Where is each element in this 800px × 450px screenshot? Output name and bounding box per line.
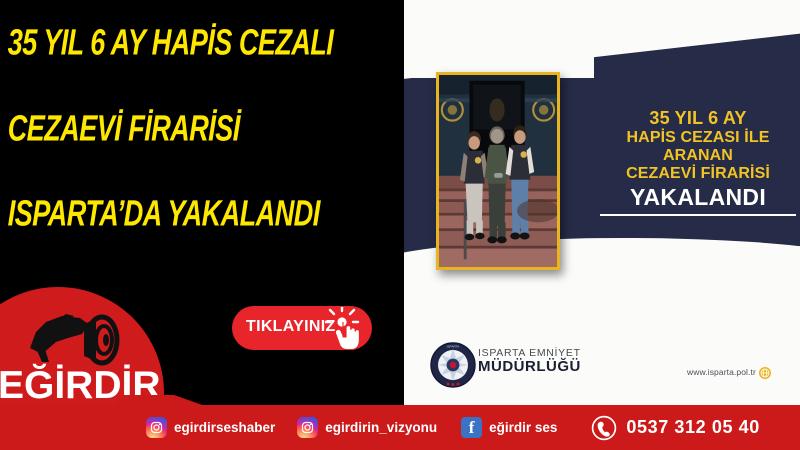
poster-line-4: CEZAEVİ FİRARİSİ <box>596 165 800 183</box>
social-handle: eğirdir ses <box>489 420 557 435</box>
institution-block: ISPARTA ISPARTA EMNİYET MÜDÜRLÜĞÜ <box>430 342 476 388</box>
social-link-facebook[interactable]: f eğirdir ses <box>461 417 557 438</box>
svg-text:ISPARTA: ISPARTA <box>447 344 461 348</box>
photo-artwork <box>439 75 557 267</box>
phone-contact[interactable]: 0537 312 05 40 <box>591 415 760 441</box>
social-link-instagram-2[interactable]: egirdirin_vizyonu <box>297 417 437 438</box>
poster-headline-block: 35 YIL 6 AY HAPİS CEZASI İLE ARANAN CEZA… <box>596 108 800 216</box>
headline-line-2: CEZAEVİ FİRARİSİ <box>7 108 396 150</box>
phone-icon <box>591 415 617 441</box>
tiklayiniz-label: TIKLAYINIZ <box>246 318 336 336</box>
headline-line-1: 35 YIL 6 AY HAPİS CEZALI <box>7 22 396 64</box>
social-handle: egirdirseshaber <box>174 420 275 435</box>
website-url: www.isparta.pol.tr <box>687 367 756 377</box>
tiklayiniz-button[interactable]: TIKLAYINIZ <box>232 306 372 350</box>
police-badge-seal-icon: ISPARTA <box>430 342 476 388</box>
instagram-icon <box>146 417 167 438</box>
facebook-icon: f <box>461 417 482 438</box>
institution-name: ISPARTA EMNİYET MÜDÜRLÜĞÜ <box>478 347 581 375</box>
left-headline-panel: 35 YIL 6 AY HAPİS CEZALI CEZAEVİ FİRARİS… <box>0 0 404 450</box>
globe-icon <box>759 366 771 378</box>
phone-number: 0537 312 05 40 <box>626 417 760 438</box>
megaphone-siren-icon <box>22 308 142 370</box>
institution-line-2: MÜDÜRLÜĞÜ <box>478 358 581 375</box>
social-link-instagram-1[interactable]: egirdirseshaber <box>146 417 275 438</box>
website-block[interactable]: www.isparta.pol.tr <box>687 366 771 378</box>
headline-line-3: ISPARTA’DA YAKALANDI <box>7 193 396 235</box>
poster-highlight-yakalandi: YAKALANDI <box>596 184 800 211</box>
social-links-row: egirdirseshaber egirdirin_vizyonu f eğir… <box>146 405 760 450</box>
poster-line-1: 35 YIL 6 AY <box>596 108 800 129</box>
poster-screenshot: 35 YIL 6 AY HAPİS CEZALI CEZAEVİ FİRARİS… <box>0 0 800 450</box>
social-handle: egirdirin_vizyonu <box>325 420 437 435</box>
social-footer-bar: egirdirseshaber egirdirin_vizyonu f eğir… <box>0 405 800 450</box>
instagram-icon <box>297 417 318 438</box>
poster-line-3: ARANAN <box>596 147 800 165</box>
poster-top-white-block <box>404 0 594 78</box>
poster-line-2: HAPİS CEZASI İLE <box>596 129 800 147</box>
poster-underline-rule <box>600 214 796 216</box>
police-escort-photo <box>436 72 560 270</box>
pointing-hand-click-icon <box>325 307 373 353</box>
